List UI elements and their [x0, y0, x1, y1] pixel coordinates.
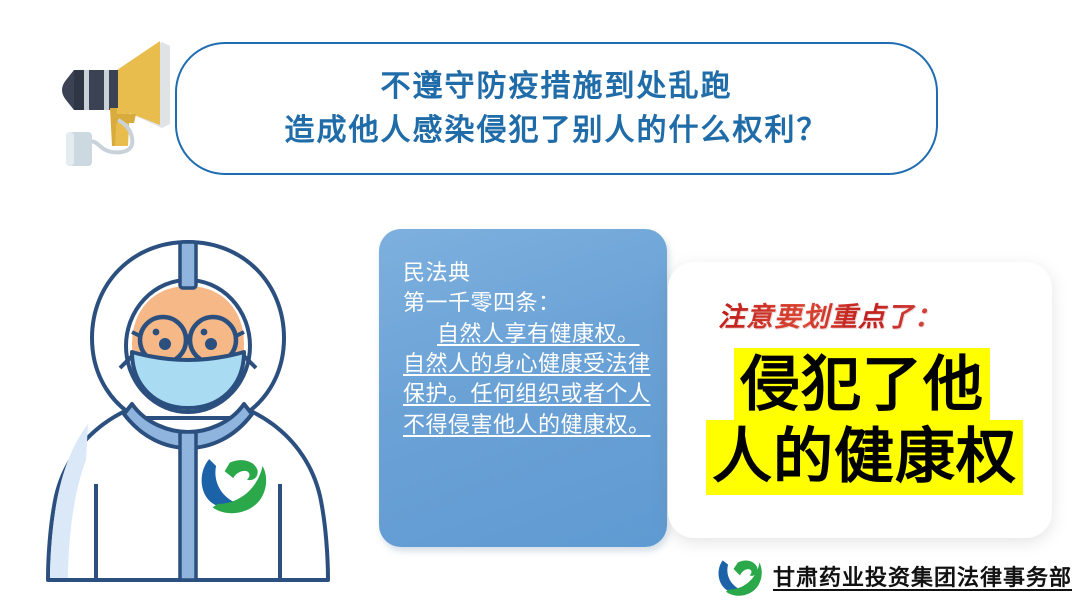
answer-highlight-line-1: 侵犯了他 — [734, 348, 990, 424]
poster-canvas: 不遵守防疫措施到处乱跑 造成他人感染侵犯了别人的什么权利？ — [0, 0, 1080, 608]
law-body-text: 自然人享有健康权。自然人的身心健康受法律保护。任何组织或者个人不得侵害他人的健康… — [403, 319, 651, 440]
law-quote-card: 民法典 第一千零四条： 自然人享有健康权。自然人的身心健康受法律保护。任何组织或… — [379, 229, 667, 547]
question-speech-bubble: 不遵守防疫措施到处乱跑 造成他人感染侵犯了别人的什么权利？ — [175, 42, 938, 175]
question-line-1: 不遵守防疫措施到处乱跑 — [381, 71, 733, 103]
megaphone-icon — [44, 28, 194, 168]
medical-worker-illustration — [28, 228, 348, 600]
answer-card-content: 注意要划重点了： 侵犯了他 人的健康权 — [668, 262, 1052, 538]
company-leaf-logo-icon — [718, 556, 762, 596]
answer-highlight-row-2: 人的健康权 — [668, 420, 1052, 496]
answer-highlight-row-1: 侵犯了他 — [668, 348, 1052, 424]
organization-name: 甘肃药业投资集团法律事务部 — [773, 560, 1072, 592]
answer-highlight-line-2: 人的健康权 — [706, 420, 1023, 496]
answer-highlight-block: 侵犯了他 人的健康权 — [668, 348, 1052, 495]
law-article-number: 第一千零四条： — [403, 288, 651, 318]
footer-branding: 甘肃药业投资集团法律事务部 — [718, 556, 1072, 596]
question-line-2: 造成他人感染侵犯了别人的什么权利？ — [285, 115, 829, 147]
law-title: 民法典 — [403, 258, 651, 288]
attention-label: 注意要划重点了： — [718, 295, 942, 334]
